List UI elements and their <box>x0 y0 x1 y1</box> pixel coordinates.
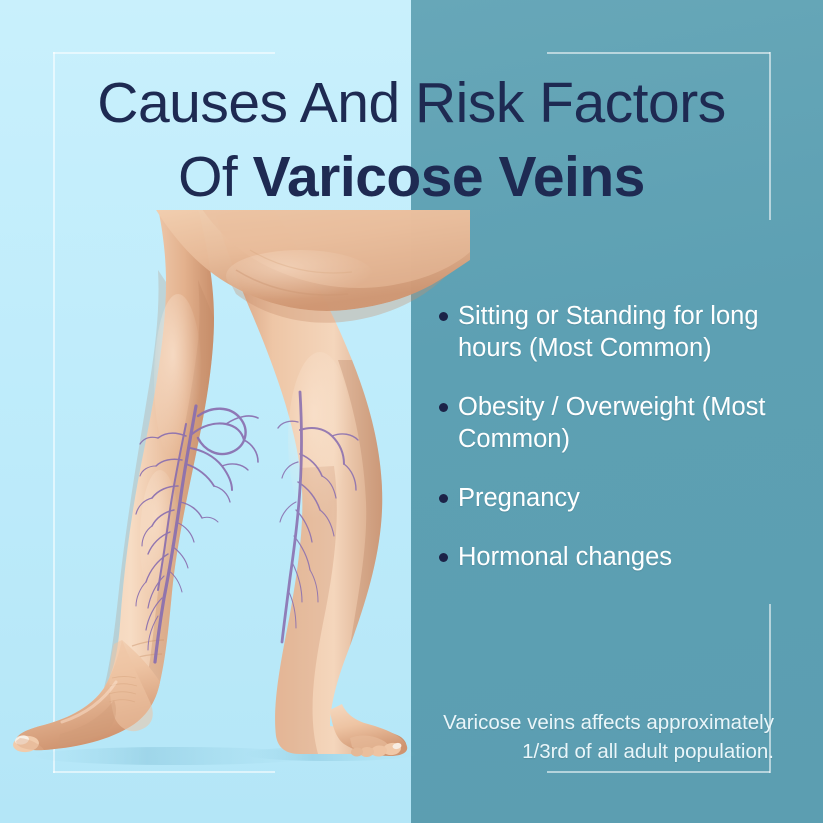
statistic-line-1: Varicose veins affects approximately <box>418 708 774 737</box>
list-item: Sitting or Standing for long hours (Most… <box>436 300 808 364</box>
frame-segment-right-upper <box>769 52 771 220</box>
statistic-footnote: Varicose veins affects approximately 1/3… <box>418 708 774 766</box>
legs-with-varicose-veins-icon <box>0 210 470 780</box>
statistic-line-2: 1/3rd of all adult population. <box>418 737 774 766</box>
frame-segment-top-left <box>53 52 275 54</box>
list-item-label: Sitting or Standing for long hours (Most… <box>458 300 808 364</box>
bullet-dot-icon <box>439 553 448 562</box>
infographic-poster: Causes And Risk Factors Of Varicose Vein… <box>0 0 823 823</box>
list-item: Hormonal changes <box>436 541 808 573</box>
frame-segment-bottom-right <box>547 771 770 773</box>
risk-factors-list: Sitting or Standing for long hours (Most… <box>436 300 808 573</box>
list-item-label: Pregnancy <box>458 482 808 514</box>
frame-segment-top-right <box>547 52 770 54</box>
list-item: Pregnancy <box>436 482 808 514</box>
bullet-dot-icon <box>439 312 448 321</box>
list-item-label: Obesity / Overweight (Most Common) <box>458 391 808 455</box>
bullet-dot-icon <box>439 403 448 412</box>
list-item-label: Hormonal changes <box>458 541 808 573</box>
bullet-dot-icon <box>439 494 448 503</box>
list-item: Obesity / Overweight (Most Common) <box>436 391 808 455</box>
